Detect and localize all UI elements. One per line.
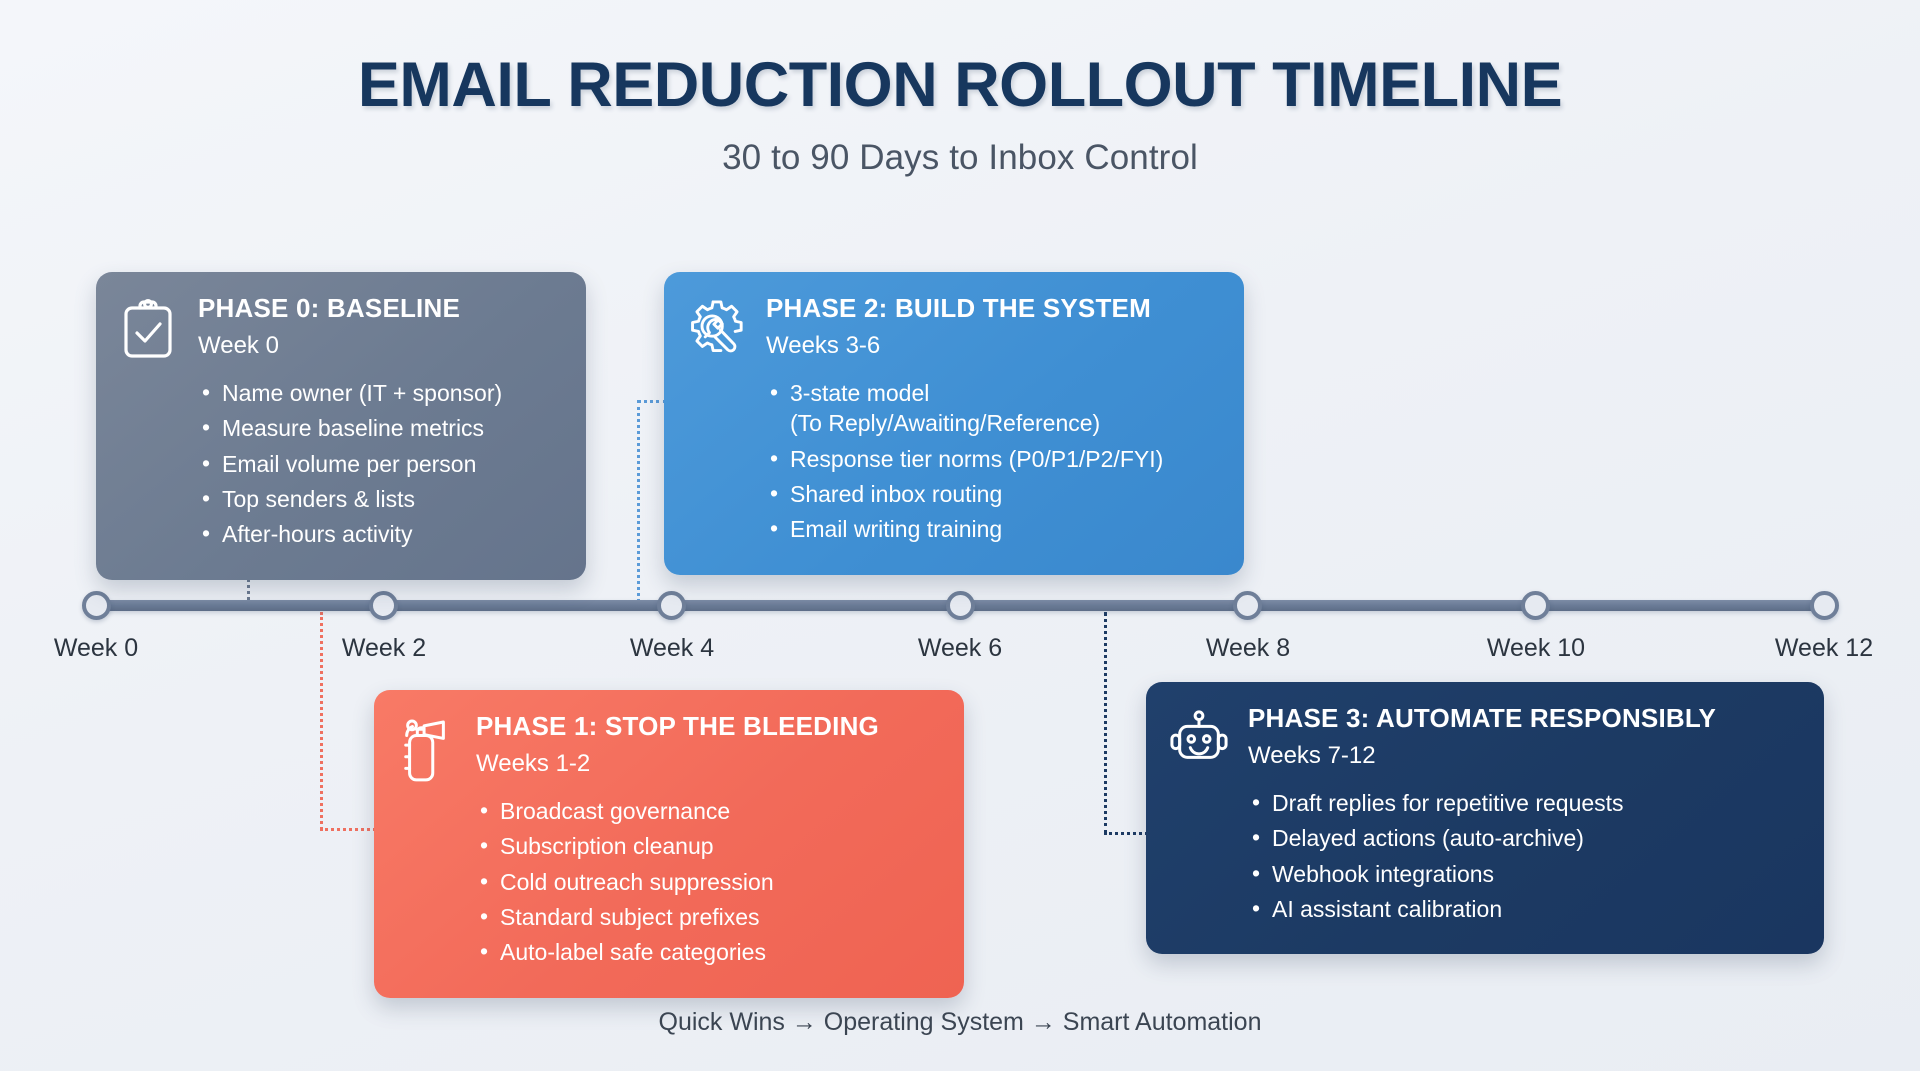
connector-phase2	[637, 400, 640, 608]
phase-bullet-item: Name owner (IT + sponsor)	[198, 379, 560, 408]
phase-bullet-item: After-hours activity	[198, 520, 560, 549]
connector-phase1-arm	[320, 828, 376, 831]
phase-bullet-item: Broadcast governance	[476, 797, 938, 826]
phase-card-phase2[interactable]: PHASE 2: BUILD THE SYSTEM Weeks 3-6 3-st…	[664, 272, 1244, 575]
phase-bullet-item: Email volume per person	[198, 450, 560, 479]
phase-card-body: PHASE 1: STOP THE BLEEDING Weeks 1-2 Bro…	[476, 712, 938, 974]
phase-bullet-item: Top senders & lists	[198, 485, 560, 514]
phase-bullet-item: AI assistant calibration	[1248, 895, 1798, 924]
phase-card-phase3[interactable]: PHASE 3: AUTOMATE RESPONSIBLY Weeks 7-12…	[1146, 682, 1824, 954]
infographic-canvas: EMAIL REDUCTION ROLLOUT TIMELINE 30 to 9…	[0, 0, 1920, 1071]
phase-weeks: Weeks 7-12	[1248, 742, 1798, 771]
timeline-axis: Week 0Week 2Week 4Week 6Week 8Week 10Wee…	[96, 600, 1824, 602]
timeline-tick-marker[interactable]	[369, 591, 398, 620]
phase-bullet-item: Webhook integrations	[1248, 860, 1798, 889]
phase-card-body: PHASE 3: AUTOMATE RESPONSIBLY Weeks 7-12…	[1248, 704, 1798, 930]
gear-wrench-icon	[688, 294, 746, 551]
phase-bullet-item: Measure baseline metrics	[198, 414, 560, 443]
phase-card-phase0[interactable]: PHASE 0: BASELINE Week 0 Name owner (IT …	[96, 272, 586, 580]
phase-title: PHASE 0: BASELINE	[198, 294, 560, 324]
robot-icon	[1170, 704, 1228, 930]
timeline-tick-label: Week 0	[54, 634, 138, 663]
phase-weeks: Weeks 3-6	[766, 332, 1218, 361]
phase-card-body: PHASE 2: BUILD THE SYSTEM Weeks 3-6 3-st…	[766, 294, 1218, 551]
timeline-tick-marker[interactable]	[657, 591, 686, 620]
timeline-tick-marker[interactable]	[946, 591, 975, 620]
phase-bullet-item: Delayed actions (auto-archive)	[1248, 824, 1798, 853]
phase-bullet-item: Draft replies for repetitive requests	[1248, 789, 1798, 818]
connector-phase2-arm	[637, 400, 667, 403]
phase-bullet-item: Shared inbox routing	[766, 480, 1218, 509]
timeline-tick-marker[interactable]	[82, 591, 111, 620]
phase-weeks: Weeks 1-2	[476, 750, 938, 779]
phase-weeks: Week 0	[198, 332, 560, 361]
phase-title: PHASE 2: BUILD THE SYSTEM	[766, 294, 1218, 324]
timeline-tick-marker[interactable]	[1233, 591, 1262, 620]
phase-bullet-item: Response tier norms (P0/P1/P2/FYI)	[766, 445, 1218, 474]
phase-bullet-item: 3-state model	[766, 379, 1218, 408]
phase-bullet-list: 3-state model(To Reply/Awaiting/Referenc…	[766, 379, 1218, 545]
phase-bullet-list: Name owner (IT + sponsor)Measure baselin…	[198, 379, 560, 550]
phase-bullet-item: Auto-label safe categories	[476, 938, 938, 967]
timeline-tick-marker[interactable]	[1810, 591, 1839, 620]
connector-phase3-arm	[1104, 832, 1148, 835]
phase-bullet-list: Draft replies for repetitive requestsDel…	[1248, 789, 1798, 925]
phase-bullet-list: Broadcast governanceSubscription cleanup…	[476, 797, 938, 968]
timeline-tick-label: Week 6	[918, 634, 1002, 663]
connector-phase3	[1104, 612, 1107, 834]
phase-title: PHASE 1: STOP THE BLEEDING	[476, 712, 938, 742]
phase-card-phase1[interactable]: PHASE 1: STOP THE BLEEDING Weeks 1-2 Bro…	[374, 690, 964, 998]
timeline-tick-marker[interactable]	[1521, 591, 1550, 620]
fire-extinguisher-icon	[398, 712, 456, 974]
phase-bullet-item: (To Reply/Awaiting/Reference)	[766, 409, 1218, 438]
page-title: EMAIL REDUCTION ROLLOUT TIMELINE	[0, 52, 1920, 118]
phase-bullet-item: Standard subject prefixes	[476, 903, 938, 932]
connector-phase1	[320, 612, 323, 830]
timeline-tick-label: Week 2	[342, 634, 426, 663]
timeline-tick-label: Week 8	[1206, 634, 1290, 663]
phase-card-body: PHASE 0: BASELINE Week 0 Name owner (IT …	[198, 294, 560, 556]
phase-bullet-item: Subscription cleanup	[476, 832, 938, 861]
footer-flow-text: Quick Wins → Operating System → Smart Au…	[0, 1008, 1920, 1037]
header: EMAIL REDUCTION ROLLOUT TIMELINE 30 to 9…	[0, 52, 1920, 178]
page-subtitle: 30 to 90 Days to Inbox Control	[0, 138, 1920, 178]
phase-bullet-item: Email writing training	[766, 515, 1218, 544]
timeline-tick-label: Week 12	[1775, 634, 1873, 663]
timeline-tick-label: Week 4	[630, 634, 714, 663]
phase-title: PHASE 3: AUTOMATE RESPONSIBLY	[1248, 704, 1798, 734]
timeline-tick-label: Week 10	[1487, 634, 1585, 663]
phase-bullet-item: Cold outreach suppression	[476, 868, 938, 897]
clipboard-check-icon	[120, 294, 178, 556]
